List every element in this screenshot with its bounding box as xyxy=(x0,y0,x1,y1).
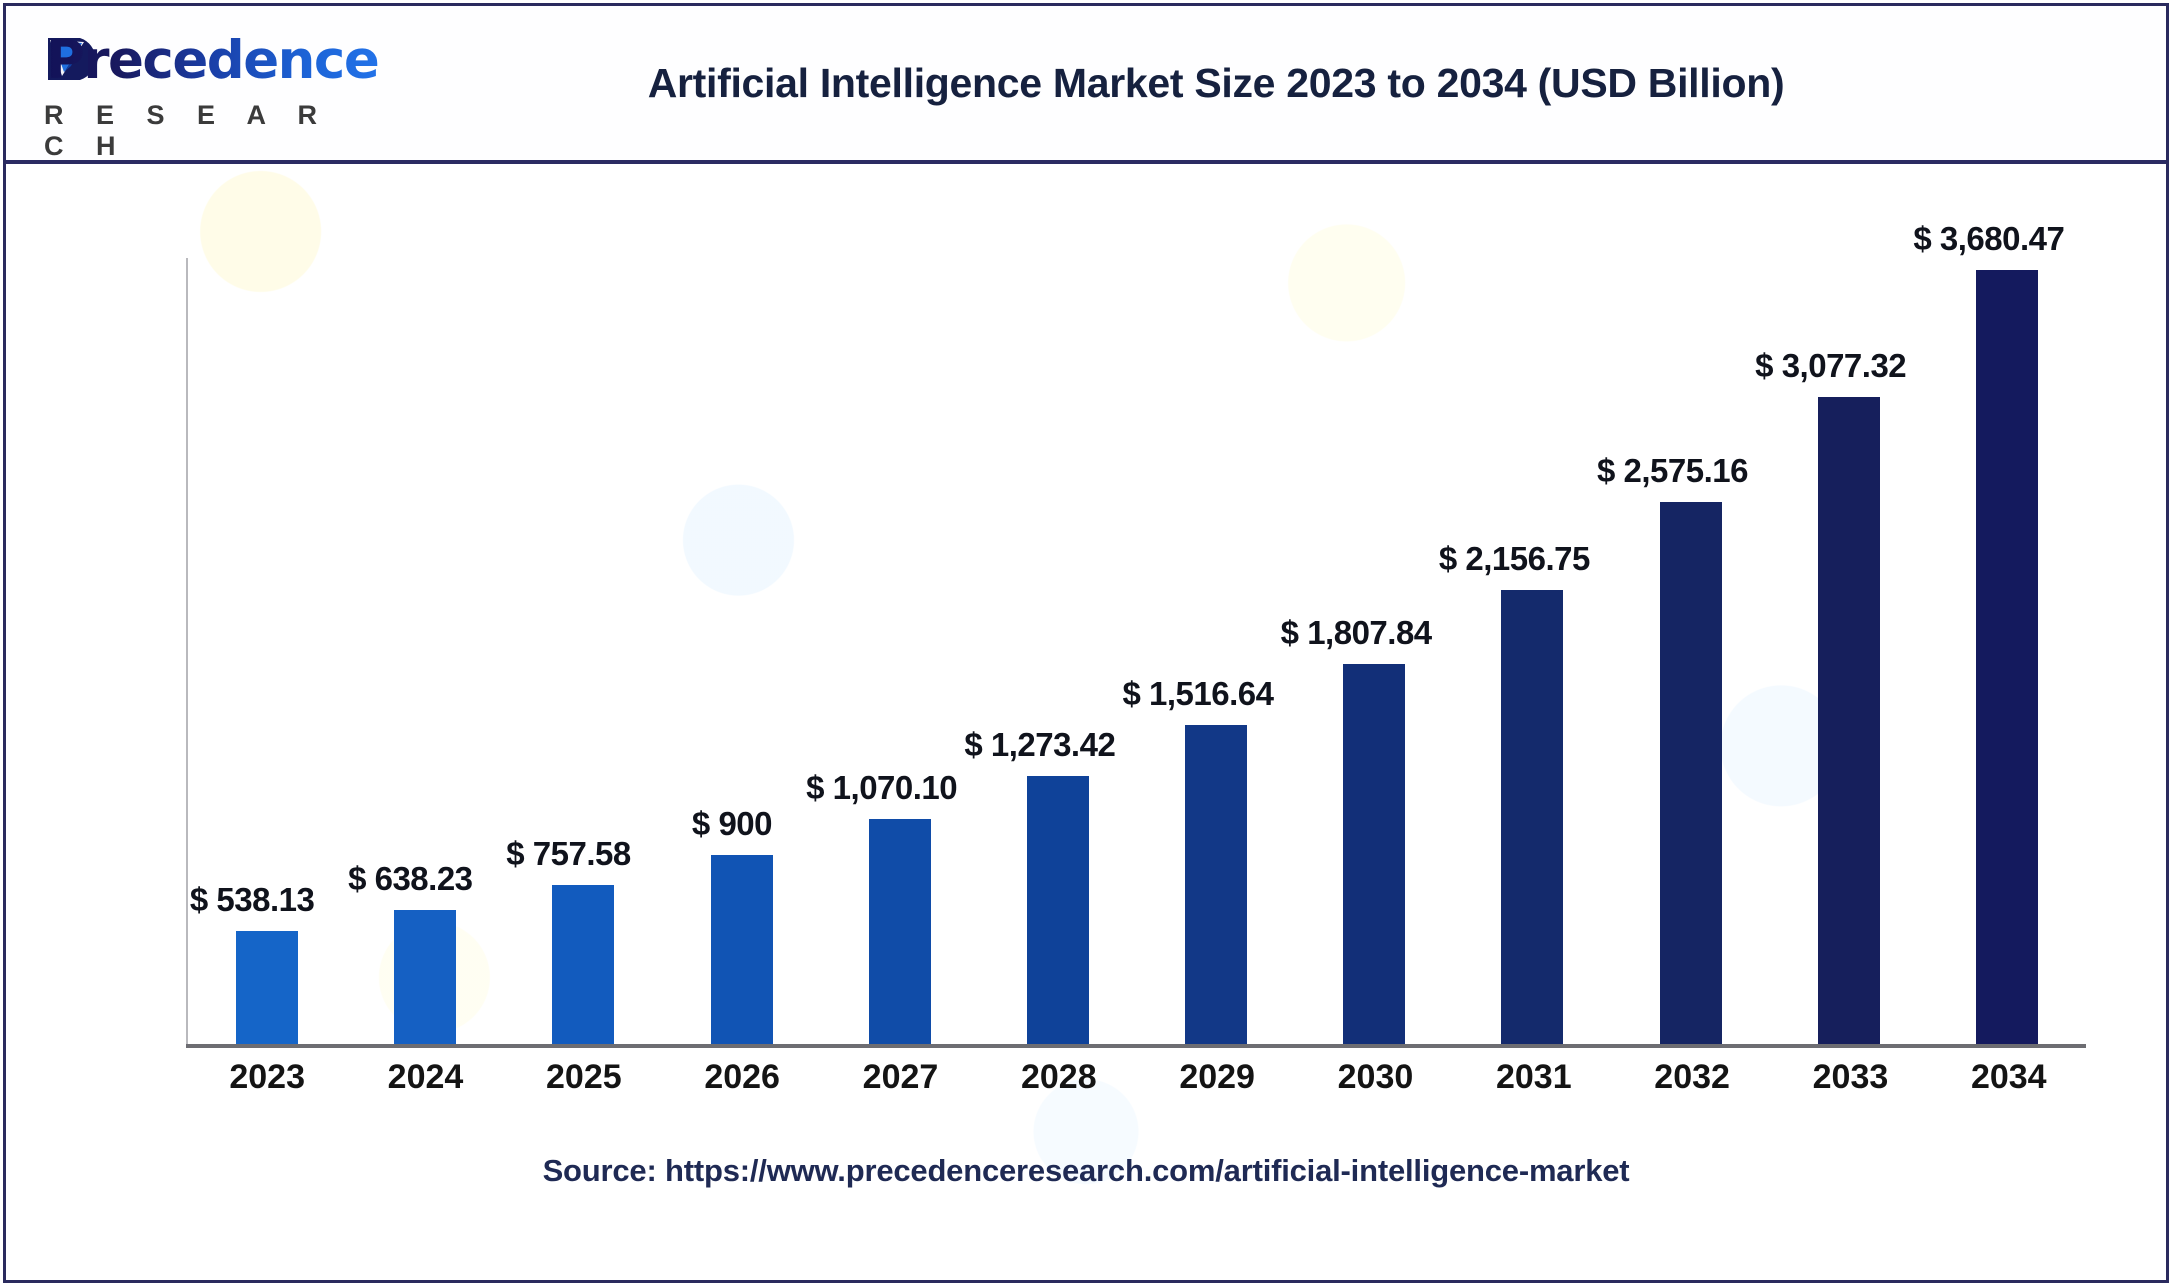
bar-slot: $ 1,273.42 xyxy=(979,258,1137,1044)
bar-value-label-2031: $ 2,156.75 xyxy=(1439,540,1590,578)
x-axis-tick-labels: 2023202420252026202720282029203020312032… xyxy=(188,1058,2088,1097)
chart-body: $ 538.13$ 638.23$ 757.58$ 900$ 1,070.10$… xyxy=(6,168,2166,1278)
source-attribution: Source: https://www.precedenceresearch.c… xyxy=(6,1153,2166,1189)
bar-2024[interactable]: $ 638.23 xyxy=(394,910,456,1044)
bar-value-label-2025: $ 757.58 xyxy=(506,835,630,873)
x-tick-2023: 2023 xyxy=(188,1058,346,1097)
x-tick-2030: 2030 xyxy=(1296,1058,1454,1097)
x-tick-2031: 2031 xyxy=(1455,1058,1613,1097)
bar-2034[interactable]: $ 3,680.47 xyxy=(1976,270,2038,1044)
x-axis-line xyxy=(186,1044,2086,1048)
bar-slot: $ 1,807.84 xyxy=(1295,258,1453,1044)
bar-value-label-2026: $ 900 xyxy=(692,805,772,843)
logo-submark-text: R E S E A R C H xyxy=(44,100,364,162)
bar-slot: $ 757.58 xyxy=(504,258,662,1044)
bar-value-label-2033: $ 3,077.32 xyxy=(1755,347,1906,385)
chart-header: Precedence R E S E A R C H Artificial In… xyxy=(6,6,2166,164)
bar-2029[interactable]: $ 1,516.64 xyxy=(1185,725,1247,1044)
bar-2025[interactable]: $ 757.58 xyxy=(552,885,614,1044)
x-tick-2027: 2027 xyxy=(821,1058,979,1097)
bar-slot: $ 3,680.47 xyxy=(1928,258,2086,1044)
bar-2030[interactable]: $ 1,807.84 xyxy=(1343,664,1405,1044)
bar-slot: $ 3,077.32 xyxy=(1770,258,1928,1044)
bar-value-label-2032: $ 2,575.16 xyxy=(1597,452,1748,490)
bar-value-label-2030: $ 1,807.84 xyxy=(1281,614,1432,652)
bar-slot: $ 900 xyxy=(663,258,821,1044)
bar-value-label-2023: $ 538.13 xyxy=(190,881,314,919)
bar-value-label-2027: $ 1,070.10 xyxy=(806,769,957,807)
bar-2032[interactable]: $ 2,575.16 xyxy=(1660,502,1722,1044)
page-title: Artificial Intelligence Market Size 2023… xyxy=(406,6,2146,160)
logo-wordmark-text: Precedence xyxy=(46,30,378,91)
x-tick-2029: 2029 xyxy=(1138,1058,1296,1097)
bar-slot: $ 1,070.10 xyxy=(821,258,979,1044)
bar-slot: $ 538.13 xyxy=(188,258,346,1044)
bar-2033[interactable]: $ 3,077.32 xyxy=(1818,397,1880,1044)
bar-2026[interactable]: $ 900 xyxy=(711,855,773,1044)
bar-value-label-2024: $ 638.23 xyxy=(348,860,472,898)
bar-value-label-2034: $ 3,680.47 xyxy=(1913,220,2064,258)
x-tick-2032: 2032 xyxy=(1613,1058,1771,1097)
x-tick-2033: 2033 xyxy=(1771,1058,1929,1097)
bar-value-label-2029: $ 1,516.64 xyxy=(1122,675,1273,713)
bar-slot: $ 638.23 xyxy=(346,258,504,1044)
x-tick-2024: 2024 xyxy=(346,1058,504,1097)
x-tick-2026: 2026 xyxy=(663,1058,821,1097)
bar-2023[interactable]: $ 538.13 xyxy=(236,931,298,1044)
bar-slot: $ 2,156.75 xyxy=(1453,258,1611,1044)
x-tick-2025: 2025 xyxy=(505,1058,663,1097)
chart-canvas: Precedence R E S E A R C H Artificial In… xyxy=(0,0,2172,1286)
x-tick-2028: 2028 xyxy=(980,1058,1138,1097)
bar-value-label-2028: $ 1,273.42 xyxy=(964,726,1115,764)
bar-slot: $ 1,516.64 xyxy=(1137,258,1295,1044)
bar-2031[interactable]: $ 2,156.75 xyxy=(1501,590,1563,1044)
logo-wordmark-row: Precedence xyxy=(34,28,364,94)
bar-slot: $ 2,575.16 xyxy=(1612,258,1770,1044)
bar-2027[interactable]: $ 1,070.10 xyxy=(869,819,931,1044)
bar-2028[interactable]: $ 1,273.42 xyxy=(1027,776,1089,1044)
x-tick-2034: 2034 xyxy=(1930,1058,2088,1097)
bar-series: $ 538.13$ 638.23$ 757.58$ 900$ 1,070.10$… xyxy=(188,258,2086,1044)
plot-area: $ 538.13$ 638.23$ 757.58$ 900$ 1,070.10$… xyxy=(186,258,2086,1048)
precedence-research-logo[interactable]: Precedence R E S E A R C H xyxy=(34,28,364,140)
